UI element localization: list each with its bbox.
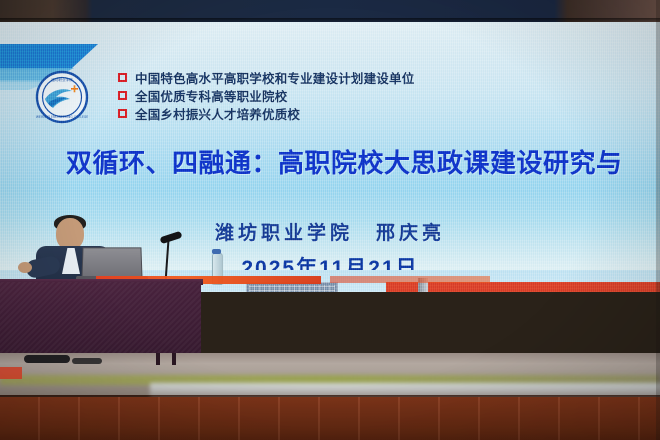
college-emblem: 潍坊职业学院 WEIFANG ENGINEERING COLLEGE bbox=[34, 70, 90, 124]
credential-text: 全国优质专科高等职业院校 bbox=[135, 86, 287, 105]
slide-credentials-list: 中国特色高水平高职学校和专业建设计划建设单位 全国优质专科高等职业院校 全国乡村… bbox=[118, 69, 548, 123]
credential-text: 中国特色高水平高职学校和专业建设计划建设单位 bbox=[135, 68, 414, 87]
decorative-ribbon-primary bbox=[0, 44, 98, 70]
credential-row: 中国特色高水平高职学校和专业建设计划建设单位 bbox=[118, 69, 548, 86]
bullet-square-icon bbox=[118, 91, 127, 100]
slide-title: 双循环、四融通：高职院校大思政课建设研究与 bbox=[66, 143, 660, 180]
shoe bbox=[24, 355, 70, 363]
credential-row: 全国乡村振兴人才培养优质校 bbox=[118, 105, 548, 122]
right-wall-edge bbox=[656, 0, 660, 440]
svg-text:WEIFANG ENGINEERING COLLEGE: WEIFANG ENGINEERING COLLEGE bbox=[36, 115, 88, 119]
stage-wood-apron bbox=[0, 397, 660, 440]
laptop bbox=[81, 247, 142, 279]
shoe bbox=[72, 358, 102, 364]
presentation-photo-scene: 潍坊职业学院 WEIFANG ENGINEERING COLLEGE 中国特色高… bbox=[0, 0, 660, 440]
credential-text: 全国乡村振兴人才培养优质校 bbox=[135, 104, 300, 123]
red-banner-strip-far bbox=[330, 276, 490, 283]
credential-row: 全国优质专科高等职业院校 bbox=[118, 87, 548, 104]
podium-leg bbox=[172, 353, 176, 365]
speaker-hand bbox=[18, 262, 32, 273]
svg-text:潍坊职业学院: 潍坊职业学院 bbox=[51, 77, 73, 82]
podium-leg bbox=[156, 353, 160, 365]
bullet-square-icon bbox=[118, 73, 127, 82]
bullet-square-icon bbox=[118, 109, 127, 118]
water-bottle-cap bbox=[212, 249, 221, 254]
stage-floor bbox=[0, 353, 660, 440]
red-object-on-floor bbox=[0, 367, 22, 379]
